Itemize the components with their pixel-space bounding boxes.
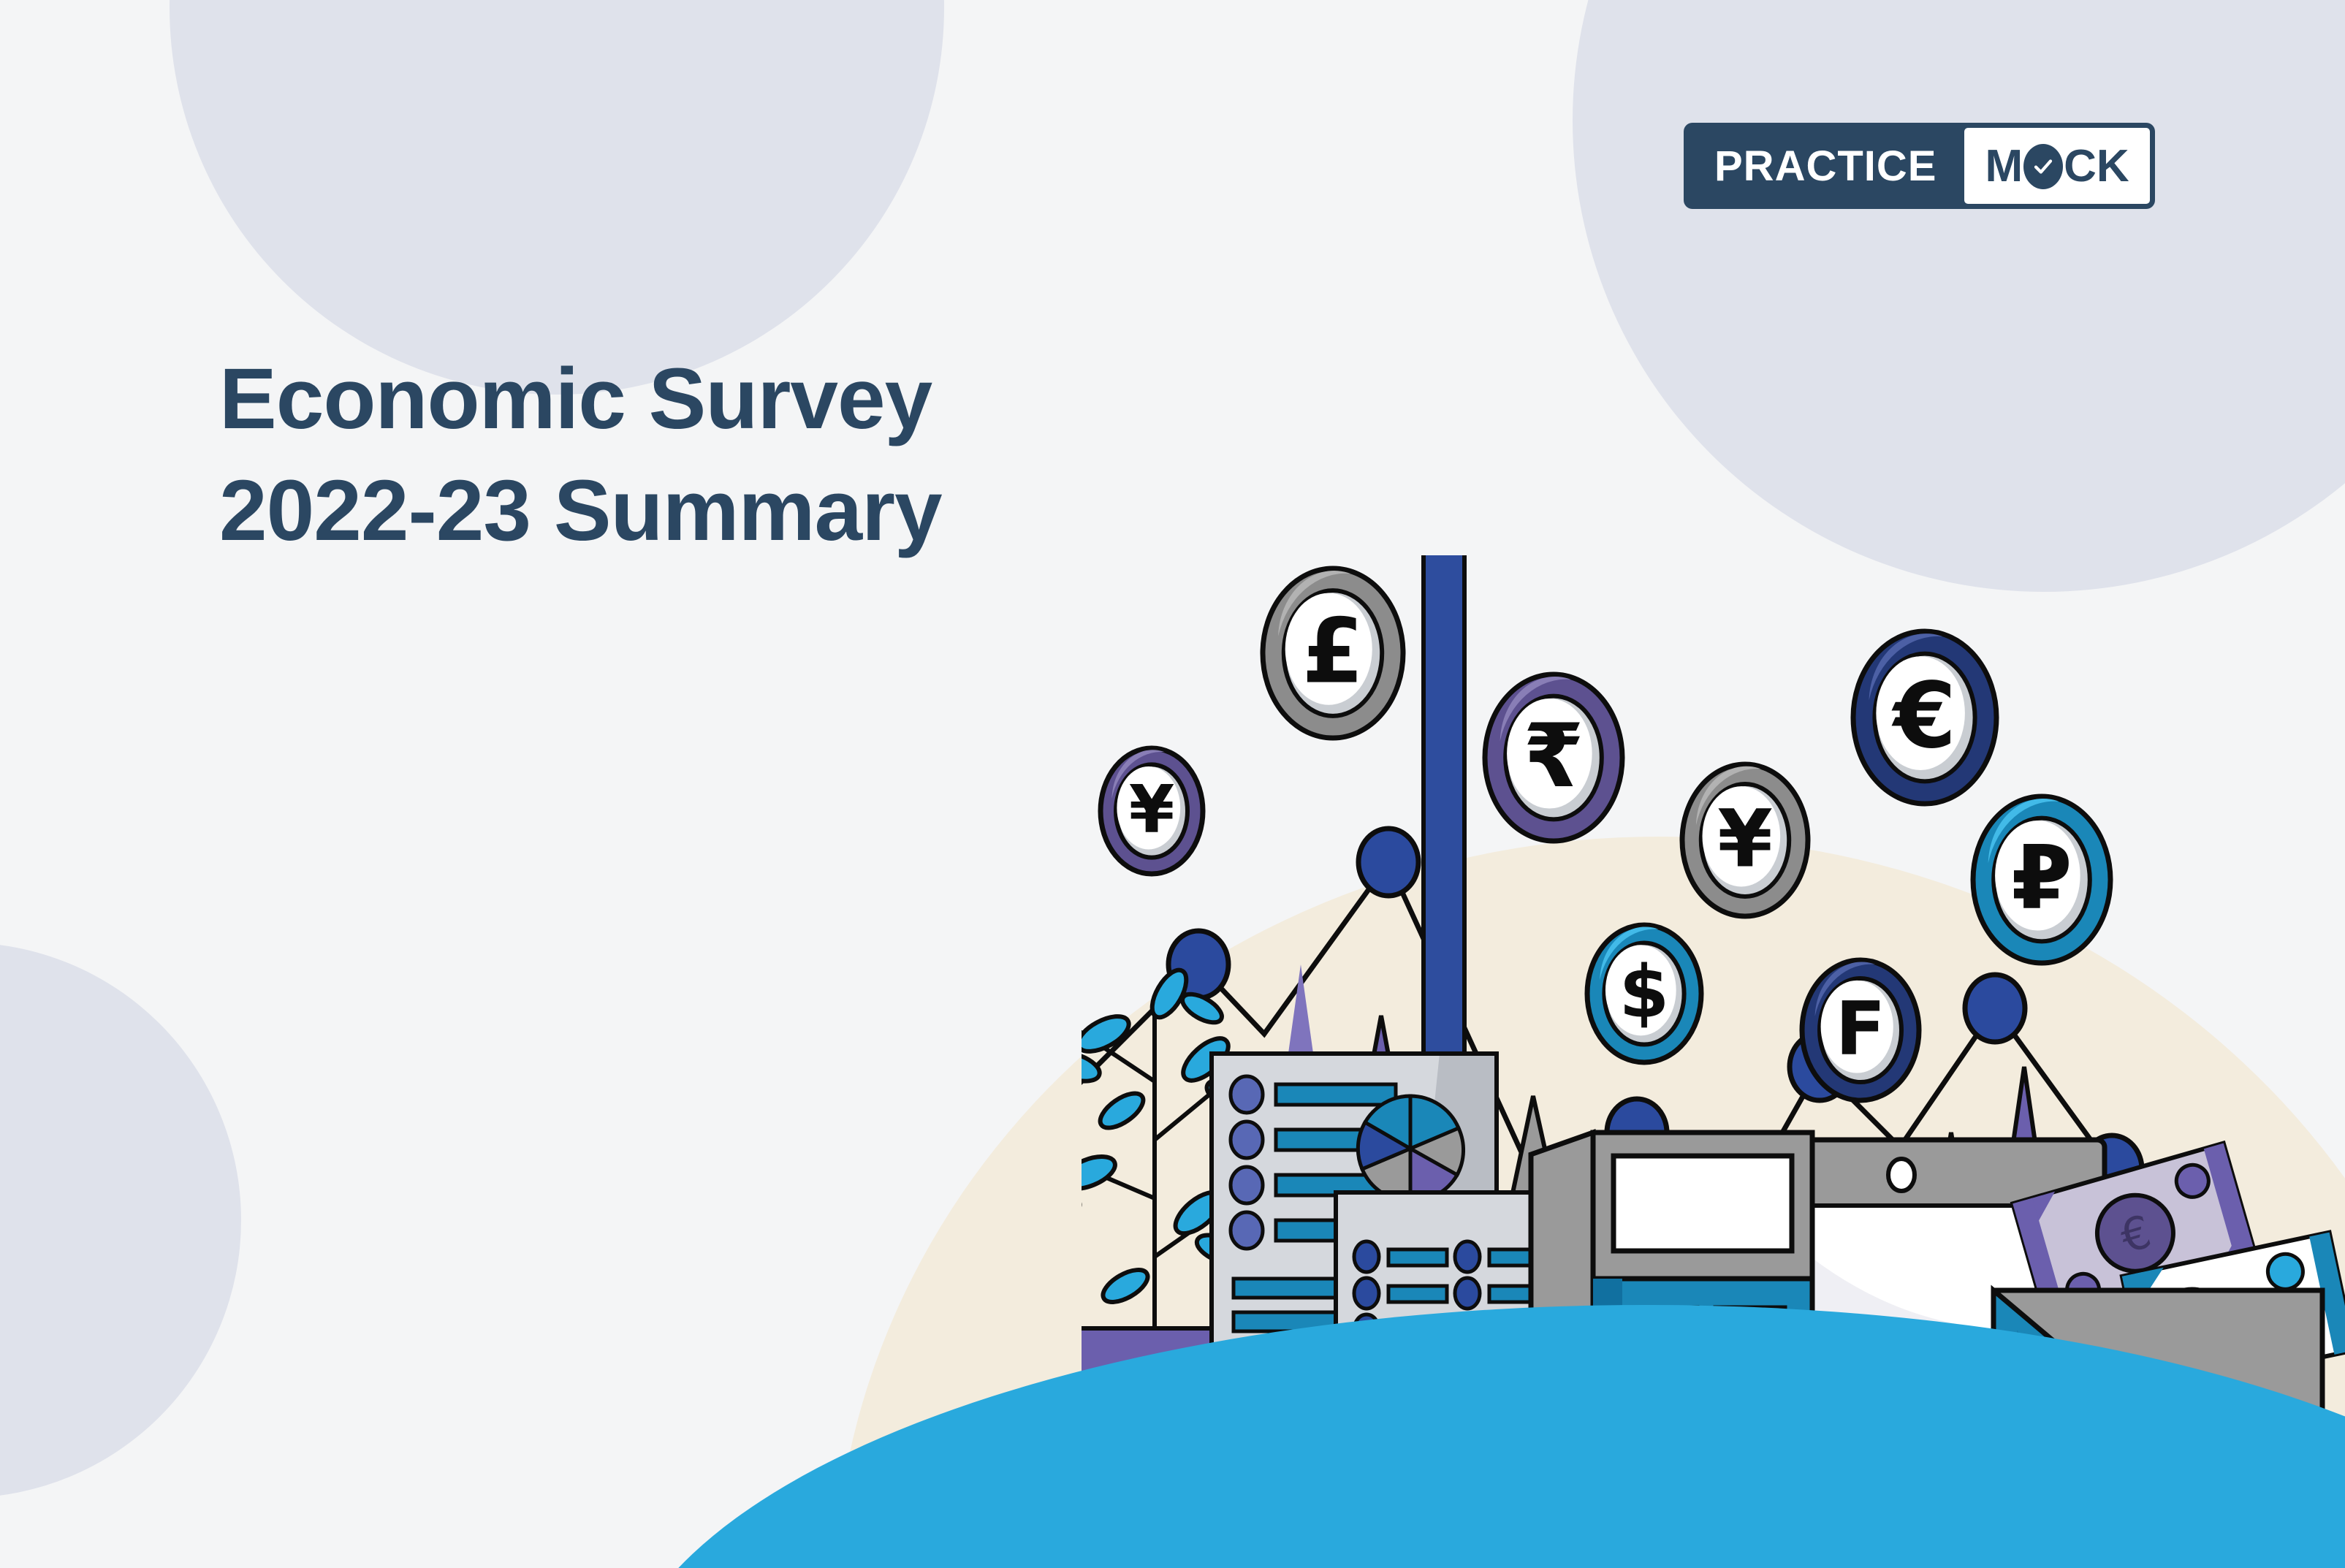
dollar-coin: $ [1587, 925, 1701, 1062]
yen-coin-silver: ¥ [1682, 764, 1808, 916]
slide-canvas: € $ [0, 0, 2345, 1568]
yen-coin-silver-symbol: ¥ [1717, 792, 1773, 885]
euro-coin-symbol: € [1891, 663, 1956, 769]
check-icon [2023, 144, 2063, 189]
title-line-2: 2022-23 Summary [219, 455, 942, 567]
dollar-coin-symbol: $ [1619, 951, 1670, 1035]
franc-coin-symbol: F [1836, 986, 1886, 1072]
franc-coin: F [1802, 960, 1919, 1100]
yen-coin-purple-symbol: ¥ [1129, 772, 1175, 848]
pound-coin: £ [1263, 568, 1403, 738]
ruble-coin-symbol: ₽ [2011, 828, 2072, 929]
rupee-coin-symbol: ₹ [1523, 706, 1584, 807]
title-line-1: Economic Survey [219, 343, 942, 455]
logo-mock-text: MCK [1964, 128, 2149, 204]
logo-practice-text: PRACTICE [1684, 123, 1964, 209]
decorative-circle-top-left [170, 0, 944, 395]
pound-coin-symbol: £ [1302, 599, 1364, 703]
practicemock-logo[interactable]: PRACTICE MCK [1684, 123, 2155, 209]
logo-mock-ck: CK [2064, 140, 2129, 192]
euro-coin: € [1853, 631, 1996, 804]
yen-coin-purple: ¥ [1101, 748, 1203, 874]
ruble-coin: ₽ [1973, 796, 2110, 963]
page-title: Economic Survey 2022-23 Summary [219, 343, 942, 568]
decorative-circle-top-right [1573, 0, 2345, 592]
decorative-circle-bottom-left [0, 943, 241, 1498]
logo-mock-m: M [1985, 140, 2023, 192]
rupee-coin: ₹ [1485, 674, 1622, 841]
